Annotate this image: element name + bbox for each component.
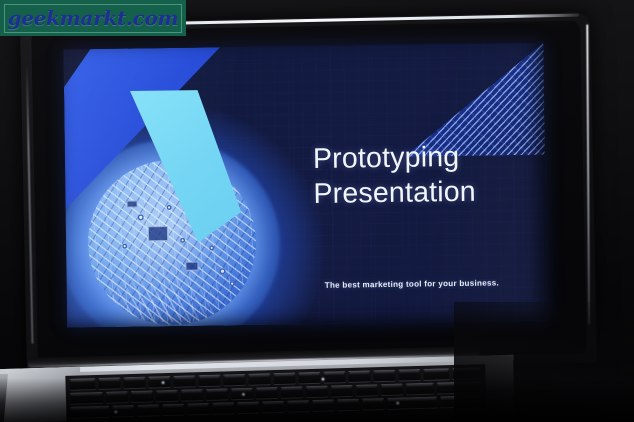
circuit-pad [220, 268, 226, 274]
keyboard-key[interactable] [173, 375, 195, 387]
circuit-fan-lines [98, 228, 247, 322]
keyboard-key[interactable] [337, 399, 359, 411]
circuit-pad [122, 243, 127, 248]
slide-title-line-2: Presentation [313, 174, 533, 212]
keyboard-key[interactable] [273, 372, 295, 384]
keyboard-key[interactable] [387, 397, 437, 409]
key-reflection [242, 393, 245, 396]
keyboard-key[interactable] [131, 390, 153, 402]
keyboard-key[interactable] [237, 401, 259, 413]
keyboard-key[interactable] [323, 371, 345, 383]
keyboard-key[interactable] [287, 400, 309, 412]
keyboard-key[interactable] [406, 383, 434, 395]
slide-title-line-1: Prototyping [313, 139, 533, 177]
watermark-text: geekmarkt.com [8, 6, 179, 30]
screenshot-stage: Prototyping Presentation The best market… [0, 0, 634, 422]
keyboard-key[interactable] [181, 389, 203, 401]
keyboard-key[interactable] [306, 386, 328, 398]
slide-title: Prototyping Presentation [313, 139, 534, 213]
keyboard-key[interactable] [156, 390, 178, 402]
circuit-pad [167, 205, 172, 210]
circuit-chip [148, 226, 168, 241]
watermark-badge: geekmarkt.com [0, 0, 186, 36]
keyboard-key[interactable] [312, 399, 334, 411]
keyboard-key[interactable] [123, 377, 145, 389]
keyboard-key[interactable] [212, 402, 234, 414]
key-reflection [162, 381, 165, 384]
keyboard-key[interactable] [223, 374, 245, 386]
keyboard-key[interactable] [106, 391, 128, 403]
keyboard-key[interactable] [70, 406, 109, 418]
keyboard-key[interactable] [137, 404, 159, 416]
keyboard-key[interactable] [187, 403, 209, 415]
keyboard-key[interactable] [362, 398, 384, 410]
keyboard-key[interactable] [398, 369, 420, 381]
keyboard-key[interactable] [262, 401, 284, 413]
keyboard-key[interactable] [198, 375, 220, 387]
circuit-chip [186, 262, 199, 271]
keyboard-key[interactable] [348, 370, 370, 382]
keyboard-key[interactable] [206, 388, 228, 400]
keyboard-key[interactable] [248, 373, 270, 385]
desk-shadow-right [454, 302, 634, 422]
keyboard-key[interactable] [256, 387, 278, 399]
keyboard-key[interactable] [373, 370, 395, 382]
circuit-pad [180, 237, 185, 242]
keyboard-key[interactable] [98, 377, 120, 389]
keyboard-key[interactable] [69, 378, 95, 390]
keyboard-key[interactable] [331, 385, 353, 397]
key-reflection [396, 402, 399, 405]
key-reflection [114, 410, 117, 413]
keyboard-key[interactable] [381, 383, 403, 395]
keyboard-key[interactable] [162, 404, 184, 416]
circuit-chip [126, 200, 137, 207]
keyboard-key[interactable] [70, 392, 103, 404]
keyboard-key[interactable] [298, 372, 320, 384]
keyboard-key[interactable] [148, 376, 170, 388]
key-reflection [321, 378, 324, 381]
laptop-screen[interactable]: Prototyping Presentation The best market… [63, 43, 547, 328]
circuit-pad [209, 245, 214, 250]
watermark-frame: geekmarkt.com [4, 4, 182, 33]
presentation-slide: Prototyping Presentation The best market… [63, 43, 547, 328]
keyboard-key[interactable] [356, 384, 378, 396]
keyboard-key[interactable] [281, 386, 303, 398]
keyboard-key[interactable] [423, 368, 449, 380]
